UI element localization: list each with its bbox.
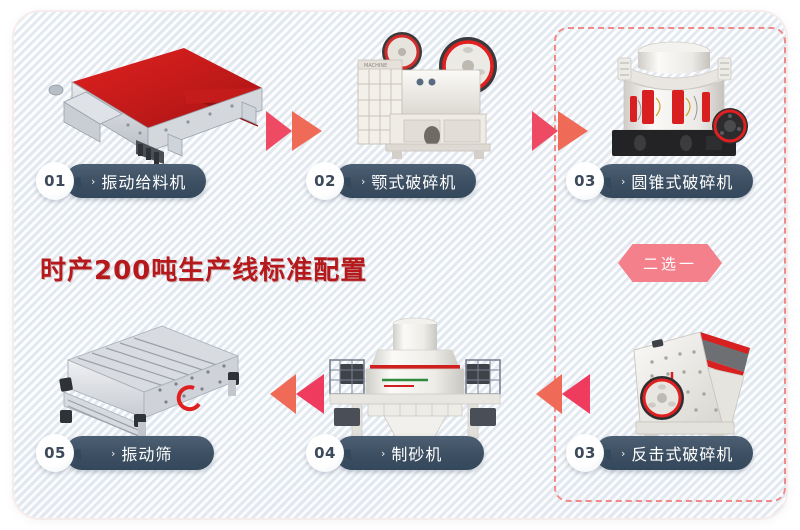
machine-cell-sand-maker — [322, 308, 508, 450]
step-label-text: 振动筛 — [121, 441, 172, 465]
step-label-03-cone[interactable]: 03 › 圆锥式破碎机 — [566, 164, 753, 198]
arrow-left-2 — [532, 370, 594, 418]
chevron-right-icon: › — [621, 175, 625, 188]
step-label-03-impact[interactable]: 03 › 反击式破碎机 — [566, 436, 753, 470]
poster-root: MACHINE — [0, 0, 800, 530]
step-number-badge: 01 — [36, 162, 74, 200]
chevron-right-icon: › — [621, 447, 625, 460]
step-label-text: 圆锥式破碎机 — [631, 169, 733, 193]
step-label-pill[interactable]: › 圆锥式破碎机 — [595, 164, 753, 198]
jaw-crusher-icon: MACHINE — [344, 26, 524, 172]
chevron-right-icon: › — [91, 175, 95, 188]
option-badge-label: 二选一 — [643, 253, 697, 274]
machine-cell-cone-crusher — [594, 30, 764, 172]
vibrating-feeder-icon — [36, 30, 276, 170]
machine-cell-impact-crusher — [604, 310, 784, 446]
chevron-right-icon: › — [111, 447, 115, 460]
sand-making-machine-icon — [322, 308, 508, 450]
option-badge: 二选一 — [618, 244, 722, 282]
step-label-pill[interactable]: › 振动筛 — [65, 436, 214, 470]
step-label-pill[interactable]: › 振动给料机 — [65, 164, 206, 198]
step-label-01[interactable]: 01 › 振动给料机 — [36, 164, 206, 198]
vibrating-screen-icon — [42, 310, 252, 450]
step-label-pill[interactable]: › 颚式破碎机 — [335, 164, 476, 198]
step-label-pill[interactable]: › 制砂机 — [335, 436, 484, 470]
step-label-text: 制砂机 — [391, 441, 442, 465]
step-number-badge: 03 — [566, 434, 604, 472]
chevron-right-icon: › — [381, 447, 385, 460]
chevron-right-icon: › — [361, 175, 365, 188]
step-label-04[interactable]: 04 › 制砂机 — [306, 436, 484, 470]
impact-crusher-icon — [604, 310, 784, 446]
step-number-badge: 05 — [36, 434, 74, 472]
step-number-badge: 04 — [306, 434, 344, 472]
step-label-text: 振动给料机 — [101, 169, 186, 193]
machine-cell-vibrating-screen — [42, 310, 252, 450]
step-label-text: 颚式破碎机 — [371, 169, 456, 193]
step-number-badge: 03 — [566, 162, 604, 200]
step-label-05[interactable]: 05 › 振动筛 — [36, 436, 214, 470]
arrow-left-1 — [266, 370, 328, 418]
machine-cell-vibrating-feeder — [36, 30, 276, 170]
step-label-02[interactable]: 02 › 颚式破碎机 — [306, 164, 476, 198]
machine-cell-jaw-crusher: MACHINE — [344, 26, 524, 172]
step-label-text: 反击式破碎机 — [631, 441, 733, 465]
arrow-right-2 — [532, 107, 594, 155]
cone-crusher-icon — [594, 30, 764, 172]
step-number-badge: 02 — [306, 162, 344, 200]
svg-text:MACHINE: MACHINE — [364, 63, 387, 69]
arrow-right-1 — [266, 107, 328, 155]
page-title: 时产200吨生产线标准配置 — [40, 250, 367, 287]
step-label-pill[interactable]: › 反击式破碎机 — [595, 436, 753, 470]
poster-frame: MACHINE — [14, 12, 786, 518]
